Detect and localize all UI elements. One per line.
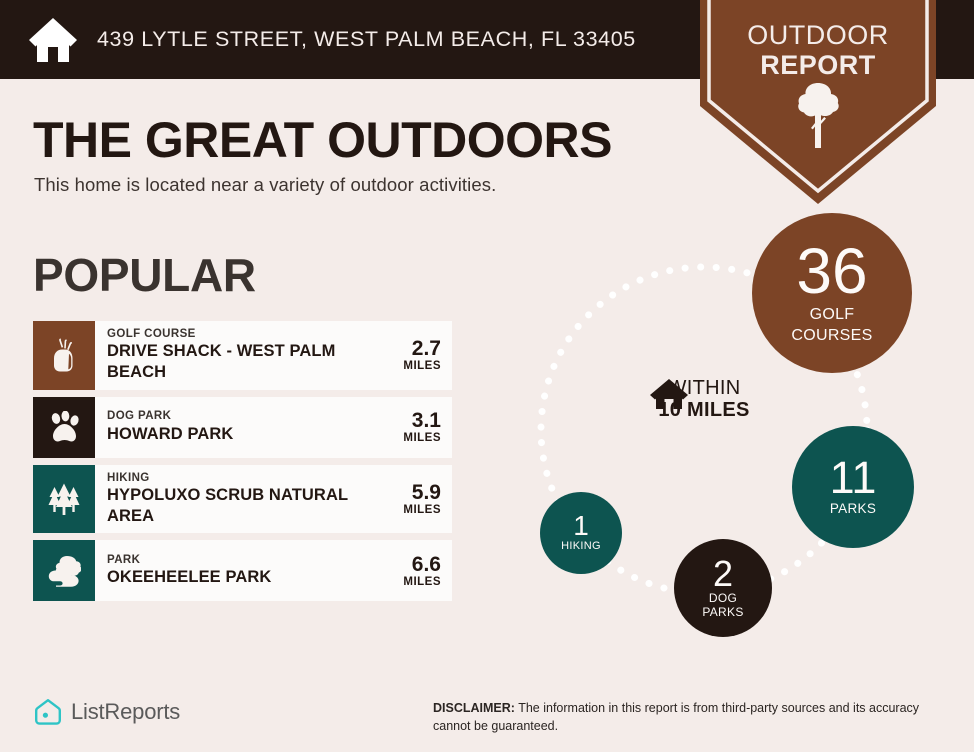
list-item-category: DOG PARK: [107, 409, 233, 423]
listreports-house-icon: [33, 697, 63, 727]
bubble-hiking[interactable]: 1 HIKING: [540, 492, 622, 574]
page-subtitle: This home is located near a variety of o…: [34, 174, 496, 196]
bubble-label-line2: PARKS: [702, 606, 743, 619]
home-icon: [27, 16, 79, 64]
bubble-label-line2: COURSES: [791, 327, 872, 344]
list-item-distance-unit: MILES: [388, 576, 441, 588]
list-item-distance-value: 2.7: [388, 338, 441, 360]
tree-icon: [795, 82, 841, 148]
badge-line1: OUTDOOR: [700, 22, 936, 49]
list-item-body: DOG PARK HOWARD PARK 3.1 MILES: [95, 397, 452, 458]
list-item-body: GOLF COURSE DRIVE SHACK - WEST PALM BEAC…: [95, 321, 452, 390]
bubble-label-line1: GOLF: [810, 306, 855, 323]
list-item-name: OKEEHEELEE PARK: [107, 567, 271, 588]
popular-heading: POPULAR: [33, 252, 256, 298]
bubble-label-line1: PARKS: [830, 502, 876, 517]
list-item-name: HOWARD PARK: [107, 424, 233, 445]
list-item-icon-tile: [33, 321, 95, 390]
bubble-golf-courses[interactable]: 36 GOLF COURSES: [752, 213, 912, 373]
list-item-name: HYPOLUXO SCRUB NATURAL AREA: [107, 485, 379, 527]
list-item-category: GOLF COURSE: [107, 327, 379, 341]
bubble-label-line1: HIKING: [561, 541, 601, 553]
list-item-category: HIKING: [107, 471, 379, 485]
list-item-distance-unit: MILES: [388, 432, 441, 444]
list-item[interactable]: DOG PARK HOWARD PARK 3.1 MILES: [33, 397, 452, 458]
bubble-label-line1: DOG: [709, 592, 737, 605]
list-item-distance-value: 6.6: [388, 554, 441, 576]
within-10-miles-bubble-chart: 36 GOLF COURSES 11 PARKS 2 DOG PARKS 1 H…: [494, 213, 954, 643]
list-item-distance: 3.1 MILES: [388, 410, 452, 444]
list-item-distance-unit: MILES: [388, 504, 441, 516]
listreports-logo[interactable]: ListReports: [33, 697, 180, 727]
home-icon: [649, 378, 689, 410]
bubble-value: 36: [796, 241, 867, 302]
pine-trees-icon: [46, 483, 82, 515]
popular-list: GOLF COURSE DRIVE SHACK - WEST PALM BEAC…: [33, 321, 452, 608]
page-title: THE GREAT OUTDOORS: [33, 115, 612, 165]
list-item-distance: 2.7 MILES: [388, 338, 452, 372]
bubble-value: 11: [830, 457, 877, 500]
list-item-icon-tile: [33, 465, 95, 534]
bubble-value: 1: [573, 513, 589, 540]
list-item-distance: 6.6 MILES: [388, 554, 452, 588]
list-item-body: HIKING HYPOLUXO SCRUB NATURAL AREA 5.9 M…: [95, 465, 452, 534]
disclaimer-label: DISCLAIMER:: [433, 701, 515, 715]
list-item-icon-tile: [33, 540, 95, 601]
list-item-category: PARK: [107, 553, 271, 567]
list-item[interactable]: HIKING HYPOLUXO SCRUB NATURAL AREA 5.9 M…: [33, 465, 452, 534]
listreports-logo-text: ListReports: [71, 699, 180, 725]
header-address: 439 LYTLE STREET, WEST PALM BEACH, FL 33…: [97, 27, 636, 52]
list-item-name: DRIVE SHACK - WEST PALM BEACH: [107, 341, 379, 383]
bubble-dog-parks[interactable]: 2 DOG PARKS: [674, 539, 772, 637]
list-item-body: PARK OKEEHEELEE PARK 6.6 MILES: [95, 540, 452, 601]
chart-center-label: WITHIN 10 MILES: [649, 378, 759, 421]
bubble-parks[interactable]: 11 PARKS: [792, 426, 914, 548]
outdoor-report-badge: OUTDOOR REPORT: [700, 0, 936, 204]
badge-title: OUTDOOR REPORT: [700, 22, 936, 79]
list-item[interactable]: GOLF COURSE DRIVE SHACK - WEST PALM BEAC…: [33, 321, 452, 390]
list-item-distance-value: 3.1: [388, 410, 441, 432]
golf-bag-icon: [49, 338, 79, 372]
badge-line2: REPORT: [700, 52, 936, 79]
list-item-distance-value: 5.9: [388, 482, 441, 504]
disclaimer: DISCLAIMER: The information in this repo…: [433, 700, 943, 736]
list-item-distance-unit: MILES: [388, 360, 441, 372]
park-tree-path-icon: [47, 555, 81, 587]
paw-print-icon: [47, 411, 81, 443]
list-item-icon-tile: [33, 397, 95, 458]
bubble-value: 2: [713, 557, 733, 591]
list-item-distance: 5.9 MILES: [388, 482, 452, 516]
list-item[interactable]: PARK OKEEHEELEE PARK 6.6 MILES: [33, 540, 452, 601]
